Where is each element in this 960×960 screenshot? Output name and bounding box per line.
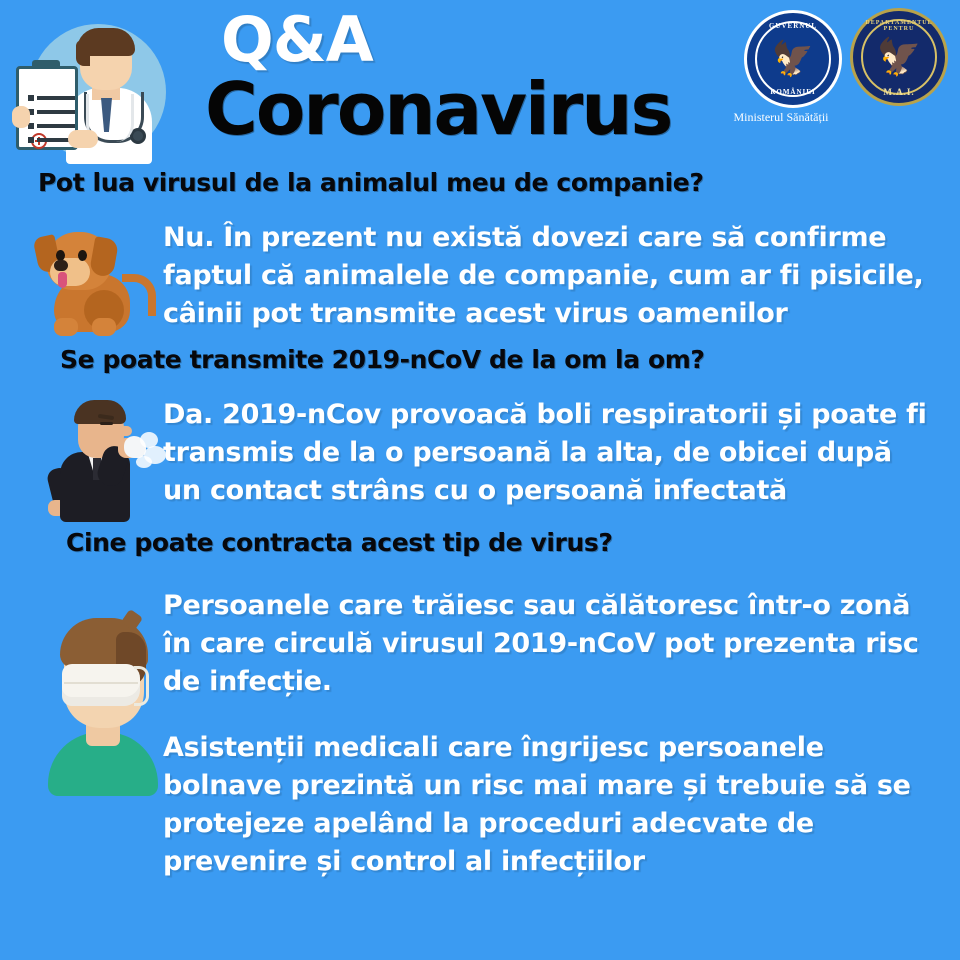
masked-person-illustration-icon bbox=[42, 606, 168, 796]
title-coronavirus: Coronavirus bbox=[205, 72, 725, 146]
coughing-man-illustration-icon bbox=[44, 396, 170, 522]
title-qa: Q&A bbox=[205, 8, 725, 72]
poster-title: Q&A Coronavirus bbox=[205, 8, 725, 146]
dsu-seal-text-top: DEPARTAMENTUL PENTRU bbox=[853, 20, 945, 32]
answer-pets: Nu. În prezent nu există dovezi care să … bbox=[163, 219, 953, 333]
dog-illustration-icon bbox=[30, 218, 154, 340]
answer-healthcare-workers-risk: Asistenții medicali care îngrijesc perso… bbox=[163, 729, 943, 881]
departamentul-situatii-urgenta-seal-icon: DEPARTAMENTUL PENTRU 🦅 M.A.I. bbox=[850, 8, 948, 106]
guvernul-romaniei-seal-icon: GUVERNUL 🦅 ROMÂNIEI bbox=[744, 10, 842, 108]
poster-header: Q&A Coronavirus GUVERNUL 🦅 ROMÂNIEI Mini… bbox=[0, 0, 960, 170]
gov-seal-text-top: GUVERNUL bbox=[747, 22, 839, 30]
answer-travellers-risk: Persoanele care trăiesc sau călătoresc î… bbox=[163, 587, 943, 701]
mai-label: M.A.I. bbox=[853, 87, 945, 97]
question-who-at-risk: Cine poate contracta acest tip de virus? bbox=[66, 528, 960, 557]
answer-human-transmission: Da. 2019-nCov provoacă boli respiratorii… bbox=[163, 396, 938, 510]
gov-seal-eagle-icon: 🦅 bbox=[772, 42, 814, 76]
question-human-transmission: Se poate transmite 2019-nCoV de la om la… bbox=[60, 345, 960, 374]
ministry-of-health-label: Ministerul Sănătății bbox=[720, 110, 842, 125]
dsu-seal-eagle-icon: 🦅 bbox=[877, 39, 922, 75]
institution-logos: GUVERNUL 🦅 ROMÂNIEI Ministerul Sănătății… bbox=[732, 6, 952, 146]
gov-seal-text-bottom: ROMÂNIEI bbox=[747, 88, 839, 96]
doctor-with-clipboard-icon bbox=[12, 10, 172, 168]
question-pets: Pot lua virusul de la animalul meu de co… bbox=[38, 168, 960, 197]
coronavirus-qa-poster: Q&A Coronavirus GUVERNUL 🦅 ROMÂNIEI Mini… bbox=[0, 0, 960, 960]
